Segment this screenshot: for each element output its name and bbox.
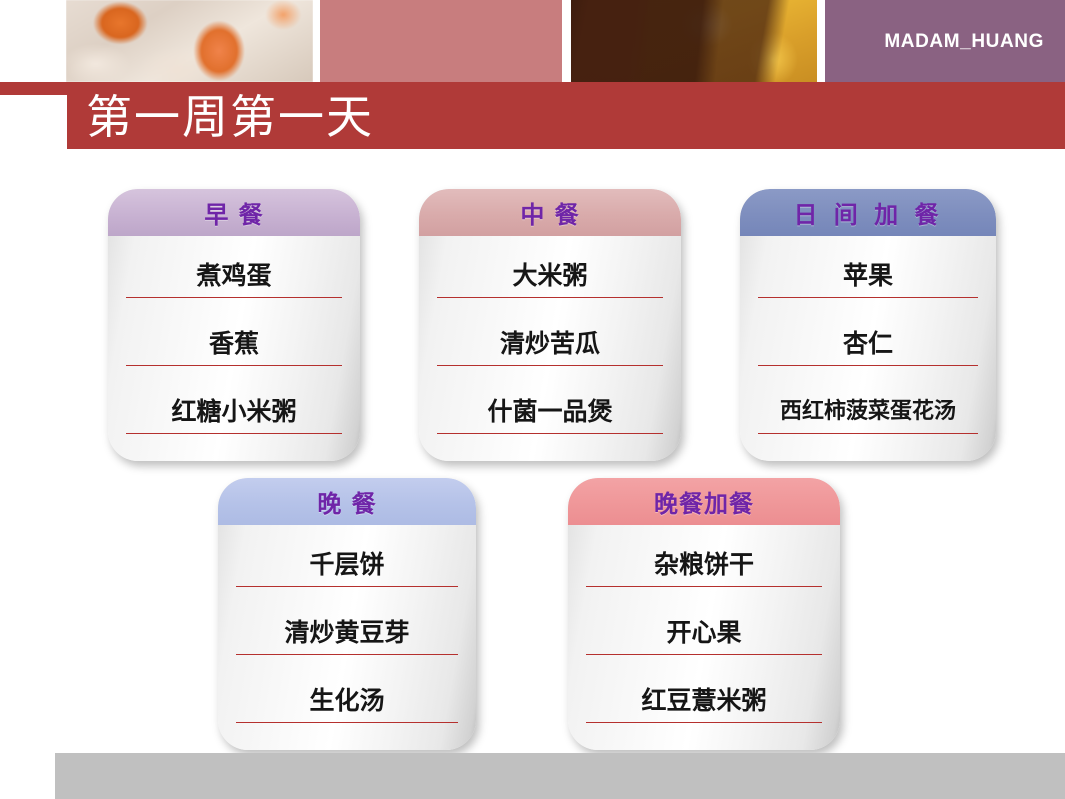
brand-logo-text: MADAM_HUANG [884,31,1044,53]
meal-item: 煮鸡蛋 [126,259,342,298]
meal-item-label: 开心果 [586,616,822,650]
meal-item: 红糖小米粥 [126,395,342,434]
banner-photo-sticky-rice-pumpkin [66,0,313,82]
meal-item-label: 红糖小米粥 [126,395,342,429]
meal-card-header: 早 餐 [108,189,360,236]
meal-item: 杂粮饼干 [586,548,822,587]
meal-item-label: 杂粮饼干 [586,548,822,582]
meal-card-body: 杂粮饼干 开心果 红豆薏米粥 [568,525,840,750]
meal-card-header: 晚餐加餐 [568,478,840,525]
meal-card-title: 晚 餐 [317,484,376,519]
meal-card-header: 晚 餐 [218,478,476,525]
banner-rose-color-block [320,0,562,82]
meal-card-evening-snack: 晚餐加餐 杂粮饼干 开心果 红豆薏米粥 [568,478,840,750]
meal-item: 生化汤 [236,684,458,723]
meal-item: 苹果 [758,259,978,298]
meal-card-body: 苹果 杏仁 西红柿菠菜蛋花汤 [740,236,996,461]
meal-item-label: 红豆薏米粥 [586,684,822,718]
banner-photo-pastry-chocolate [571,0,817,82]
meal-card-body: 千层饼 清炒黄豆芽 生化汤 [218,525,476,750]
meal-item-label: 香蕉 [126,327,342,361]
meal-item-label: 苹果 [758,259,978,293]
meal-card-title: 日 间 加 餐 [793,195,942,230]
meal-card-title: 晚餐加餐 [654,484,754,519]
meal-card-body: 大米粥 清炒苦瓜 什菌一品煲 [419,236,681,461]
meal-item: 清炒黄豆芽 [236,616,458,655]
meal-card-title: 中 餐 [520,195,579,230]
meal-card-body: 煮鸡蛋 香蕉 红糖小米粥 [108,236,360,461]
meal-card-daytime-snack: 日 间 加 餐 苹果 杏仁 西红柿菠菜蛋花汤 [740,189,996,461]
photo-image [66,0,313,82]
meal-item: 千层饼 [236,548,458,587]
meal-item-label: 杏仁 [758,327,978,361]
meal-card-lunch: 中 餐 大米粥 清炒苦瓜 什菌一品煲 [419,189,681,461]
meal-item-label: 千层饼 [236,548,458,582]
meal-item-label: 生化汤 [236,684,458,718]
meal-item: 西红柿菠菜蛋花汤 [758,395,978,434]
meal-card-breakfast: 早 餐 煮鸡蛋 香蕉 红糖小米粥 [108,189,360,461]
meal-item: 清炒苦瓜 [437,327,663,366]
meal-item: 杏仁 [758,327,978,366]
meal-card-dinner: 晚 餐 千层饼 清炒黄豆芽 生化汤 [218,478,476,750]
meal-card-header: 中 餐 [419,189,681,236]
banner-logo-block: MADAM_HUANG [825,0,1065,82]
meal-item-label: 煮鸡蛋 [126,259,342,293]
meal-item: 香蕉 [126,327,342,366]
meal-card-header: 日 间 加 餐 [740,189,996,236]
meal-item: 大米粥 [437,259,663,298]
meal-item: 什菌一品煲 [437,395,663,434]
color-block [320,0,562,82]
footer-bar [55,753,1065,799]
page-title: 第一周第一天 [86,88,374,146]
meal-item-label: 大米粥 [437,259,663,293]
meal-item-label: 清炒苦瓜 [437,327,663,361]
meal-item-label: 西红柿菠菜蛋花汤 [758,395,978,429]
photo-image [571,0,817,82]
meal-item-label: 清炒黄豆芽 [236,616,458,650]
meal-item-label: 什菌一品煲 [437,395,663,429]
top-banner: MADAM_HUANG [0,0,1065,82]
meal-item: 开心果 [586,616,822,655]
meal-card-title: 早 餐 [204,195,263,230]
meal-item: 红豆薏米粥 [586,684,822,723]
